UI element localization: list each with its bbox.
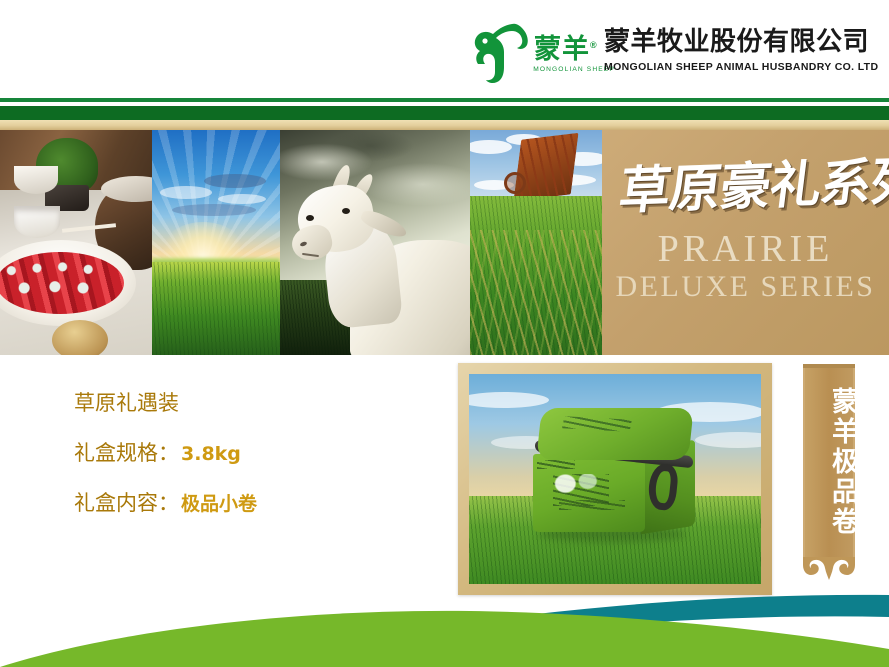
gift-box-spec-value: 3.8kg xyxy=(181,443,241,465)
company-name-en: MONGOLIAN SHEEP ANIMAL HUSBANDRY CO. LTD xyxy=(604,61,889,73)
white-goat-portrait-photo xyxy=(280,130,470,355)
gift-box-spec-label: 礼盒规格： xyxy=(74,441,179,465)
gift-box-content-row: 礼盒内容：极品小卷 xyxy=(74,493,404,514)
cooler-bag-icon xyxy=(527,408,707,538)
brand-logo[interactable]: 蒙羊® MONGOLIAN SHEEP xyxy=(472,22,614,84)
sunrise-grassland-photo xyxy=(152,130,280,355)
series-title-cn: 草原豪礼系列 xyxy=(616,157,884,217)
green-cooler-gift-bag-on-grassland xyxy=(469,374,761,584)
vertical-product-banner: 蒙羊极品卷 xyxy=(803,364,855,594)
page-footer xyxy=(0,577,889,667)
brand-name-cn: 蒙羊® xyxy=(534,36,614,63)
gift-box-content-value: 极品小卷 xyxy=(181,493,257,515)
product-photo-frame xyxy=(458,363,772,595)
gift-box-content-label: 礼盒内容： xyxy=(74,491,179,515)
vertical-banner-text: 蒙羊极品卷 xyxy=(805,376,857,548)
product-title-row: 草原礼遇装 xyxy=(74,393,404,414)
hero-banner: 草原豪礼系列 PRAIRIE DELUXE SERIES xyxy=(0,130,889,355)
product-title: 草原礼遇装 xyxy=(74,391,179,415)
series-title-en-prairie: PRAIRIE xyxy=(602,230,889,268)
gift-box-spec-row: 礼盒规格：3.8kg xyxy=(74,443,404,464)
series-title-panel: 草原豪礼系列 PRAIRIE DELUXE SERIES xyxy=(602,130,889,355)
registered-trademark-icon: ® xyxy=(590,40,598,50)
series-title-en-deluxe: DELUXE SERIES xyxy=(602,272,889,302)
divider-thick-green xyxy=(0,106,889,120)
mongolian-sheep-goat-logo-icon xyxy=(472,22,530,84)
company-name-block: 蒙羊牧业股份有限公司 MONGOLIAN SHEEP ANIMAL HUSBAN… xyxy=(604,28,889,73)
prairie-windmill-photo xyxy=(470,130,602,355)
product-spec-list: 草原礼遇装 礼盒规格：3.8kg 礼盒内容：极品小卷 xyxy=(74,393,404,543)
brand-name-en: MONGOLIAN SHEEP xyxy=(533,66,615,73)
page-header: 蒙羊® MONGOLIAN SHEEP 蒙羊牧业股份有限公司 MONGOLIAN… xyxy=(0,0,889,98)
company-name-cn: 蒙羊牧业股份有限公司 xyxy=(604,28,889,58)
product-content: 草原礼遇装 礼盒规格：3.8kg 礼盒内容：极品小卷 xyxy=(0,355,889,600)
hotpot-sliced-lamb-photo xyxy=(0,130,152,355)
divider-gold xyxy=(0,120,889,130)
